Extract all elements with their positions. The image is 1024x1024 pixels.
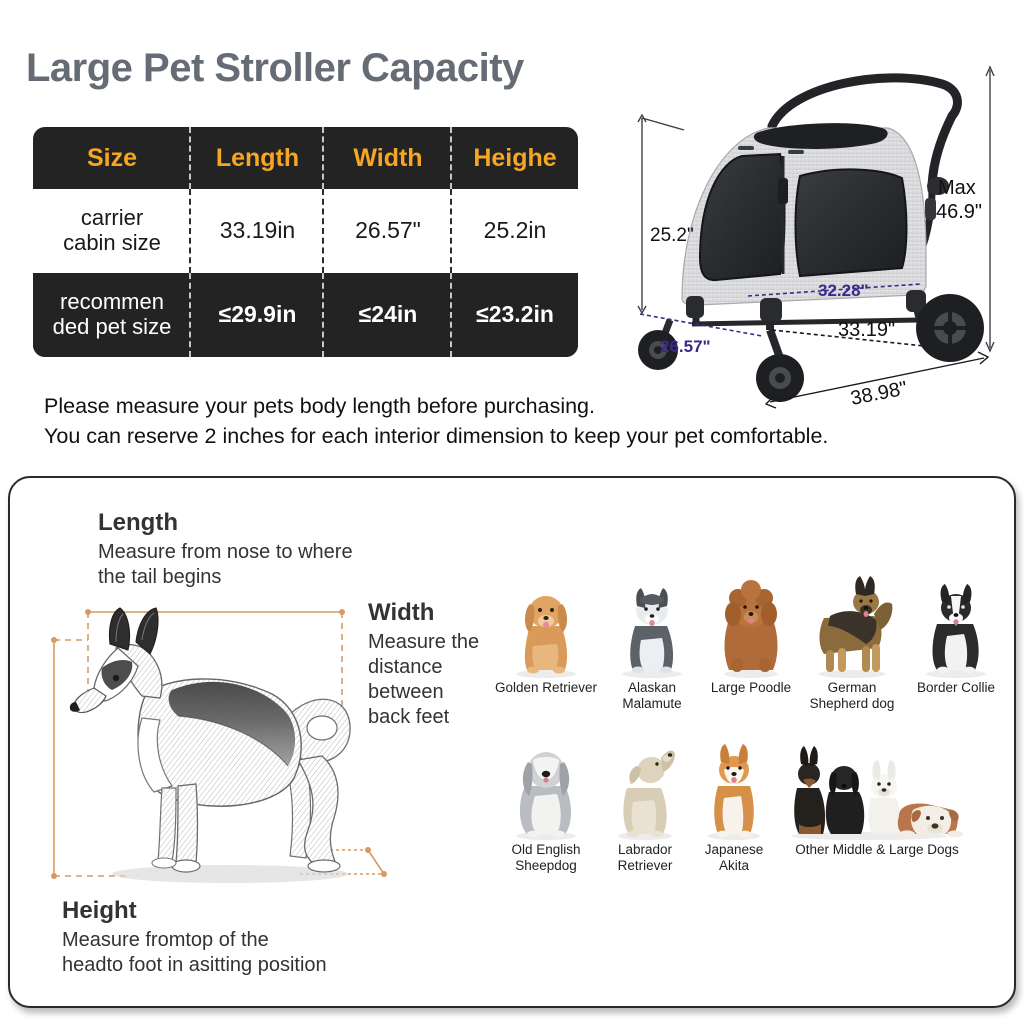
breed-label: Old English Sheepdog: [511, 842, 580, 874]
front-mesh-window: [700, 154, 785, 280]
breed-label: Large Poodle: [711, 680, 791, 696]
german-shepherd-photo: [804, 574, 900, 678]
breed-alaskan-malamute: Alaskan Malamute: [599, 574, 705, 712]
breed-row-2: Old English Sheepdog: [493, 740, 1013, 874]
other-large-dogs-photo: [787, 740, 967, 840]
carrier-width: 26.57": [324, 189, 452, 273]
row-label-recommended-pet: recommen ded pet size: [33, 273, 191, 357]
wheel-rear: [916, 294, 984, 362]
spec-table: Size Length Width Heighe carrier cabin s…: [33, 127, 578, 357]
breed-border-collie: Border Collie: [907, 574, 1005, 712]
pet-width: ≤24in: [324, 273, 452, 357]
dim-26-57: 26.57": [660, 337, 711, 356]
breed-label: Border Collie: [917, 680, 995, 696]
large-poodle-photo: [711, 574, 791, 678]
frame-hub: [760, 298, 782, 322]
dimline-max-height: [986, 67, 994, 351]
length-description: Measure from nose to where the tail begi…: [98, 540, 353, 590]
header-size: Size: [33, 127, 191, 189]
breed-row-1: Golden Retriever: [493, 574, 1013, 712]
breed-label: Golden Retriever: [495, 680, 597, 696]
dim-max-label: Max: [938, 177, 976, 199]
stroller-frame: [692, 298, 938, 358]
alaskan-malamute-photo: [609, 574, 695, 678]
header-height: Heighe: [452, 127, 578, 189]
breed-old-english-sheepdog: Old English Sheepdog: [493, 740, 599, 874]
length-heading: Length: [98, 510, 353, 536]
header-length: Length: [191, 127, 324, 189]
breed-gallery: Golden Retriever: [493, 574, 1013, 874]
japanese-akita-photo: [696, 740, 772, 840]
breed-label: Other Middle & Large Dogs: [795, 842, 959, 858]
height-description: Measure fromtop of the headto foot in as…: [62, 928, 327, 978]
golden-retriever-photo: [503, 574, 589, 678]
breed-label: German Shepherd dog: [810, 680, 895, 712]
border-collie-photo: [913, 574, 999, 678]
side-mesh-window: [796, 169, 907, 276]
german-shepherd-diagram: [50, 598, 470, 908]
infographic-root: Large Pet Stroller Capacity Size Length …: [0, 0, 1024, 1024]
dim-33-19: 33.19": [838, 319, 895, 341]
dimline-canopy-height: [638, 115, 684, 313]
dim-32-28: 32.28": [818, 281, 869, 300]
stroller-diagram: 25.2" Max 46.9" 32.28" 26.57": [620, 58, 1024, 418]
breed-other-large-dogs: Other Middle & Large Dogs: [777, 740, 977, 874]
labrador-retriever-photo: [605, 740, 685, 840]
breed-japanese-akita: Japanese Akita: [691, 740, 777, 874]
pet-height: ≤23.2in: [452, 273, 578, 357]
length-guide-block: Length Measure from nose to where the ta…: [98, 510, 353, 590]
height-guide-block: Height Measure fromtop of the headto foo…: [62, 898, 327, 978]
breed-german-shepherd: German Shepherd dog: [797, 574, 907, 712]
dog-illustration: [70, 608, 350, 872]
measurement-guide-panel: Length Measure from nose to where the ta…: [8, 476, 1016, 1008]
dim-25-2: 25.2": [650, 225, 694, 246]
row-label-carrier-cabin: carrier cabin size: [33, 189, 191, 273]
carrier-length: 33.19in: [191, 189, 324, 273]
breed-labrador-retriever: Labrador Retriever: [599, 740, 691, 874]
page-title: Large Pet Stroller Capacity: [26, 46, 524, 91]
old-english-sheepdog-photo: [503, 740, 589, 840]
header-width: Width: [324, 127, 452, 189]
carrier-height: 25.2in: [452, 189, 578, 273]
table-row-carrier-cabin: carrier cabin size 33.19in 26.57" 25.2in: [33, 189, 578, 273]
table-row-recommended-pet: recommen ded pet size ≤29.9in ≤24in ≤23.…: [33, 273, 578, 357]
breed-label: Alaskan Malamute: [599, 680, 705, 712]
pet-length: ≤29.9in: [191, 273, 324, 357]
breed-label: Labrador Retriever: [618, 842, 673, 874]
breed-golden-retriever: Golden Retriever: [493, 574, 599, 712]
dim-38-98: 38.98": [849, 377, 909, 410]
table-header-row: Size Length Width Heighe: [33, 127, 578, 189]
breed-label: Japanese Akita: [705, 842, 764, 874]
wheel-front-right: [756, 354, 804, 402]
dim-46-9: 46.9": [936, 201, 982, 223]
handle-adjuster: [925, 198, 936, 220]
note-line-2: You can reserve 2 inches for each interi…: [44, 422, 1004, 452]
breed-large-poodle: Large Poodle: [705, 574, 797, 712]
